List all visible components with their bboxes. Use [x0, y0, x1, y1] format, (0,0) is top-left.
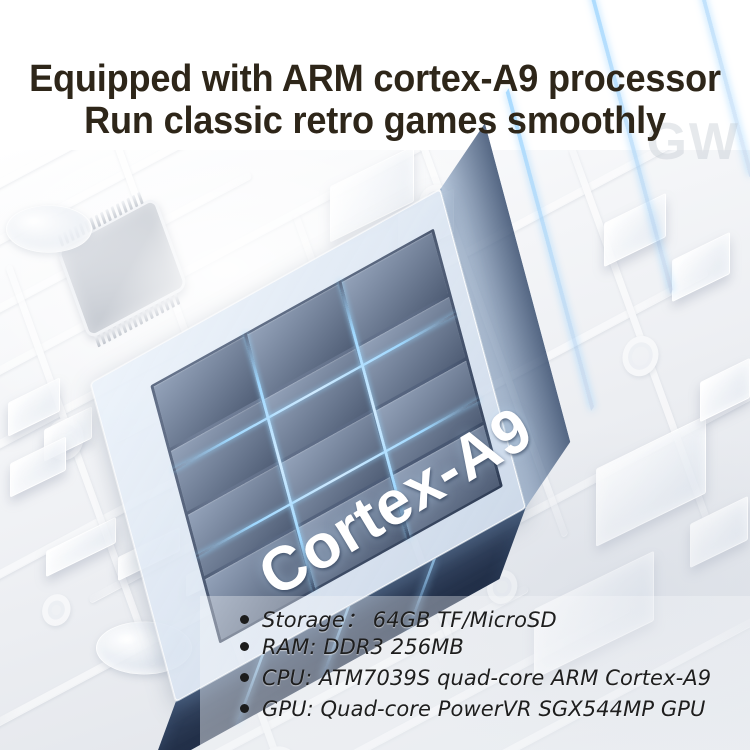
cortex-a9-chip-graphic: Cortex-A9 [60, 215, 600, 615]
bullet-icon [240, 615, 249, 624]
spec-text: RAM: DDR3 256MB [262, 635, 464, 659]
bullet-icon [240, 704, 249, 713]
specifications-list: Storage： 64GB TF/MicroSD RAM: DDR3 256MB… [240, 604, 711, 728]
spec-item-cpu: CPU: ATM7039S quad-core ARM Cortex-A9 [240, 666, 711, 697]
specifications-panel: Storage： 64GB TF/MicroSD RAM: DDR3 256MB… [200, 596, 750, 750]
spec-item-gpu: GPU: Quad-core PowerVR SGX544MP GPU [240, 697, 711, 728]
spec-text: GPU: Quad-core PowerVR SGX544MP GPU [262, 697, 706, 721]
product-feature-banner: Cortex-A9 Equipped with ARM cortex-A9 pr… [0, 0, 750, 750]
spec-text: Storage： 64GB TF/MicroSD [262, 604, 557, 634]
bullet-icon [240, 642, 249, 651]
headline-line-1: Equipped with ARM cortex-A9 processor [19, 58, 732, 100]
spec-text: CPU: ATM7039S quad-core ARM Cortex-A9 [262, 666, 711, 690]
spec-item-ram: RAM: DDR3 256MB [240, 635, 711, 666]
headline-block: Equipped with ARM cortex-A9 processor Ru… [0, 58, 750, 142]
spec-item-storage: Storage： 64GB TF/MicroSD [240, 604, 711, 635]
headline-line-2: Run classic retro games smoothly [19, 100, 732, 142]
bullet-icon [240, 673, 249, 682]
